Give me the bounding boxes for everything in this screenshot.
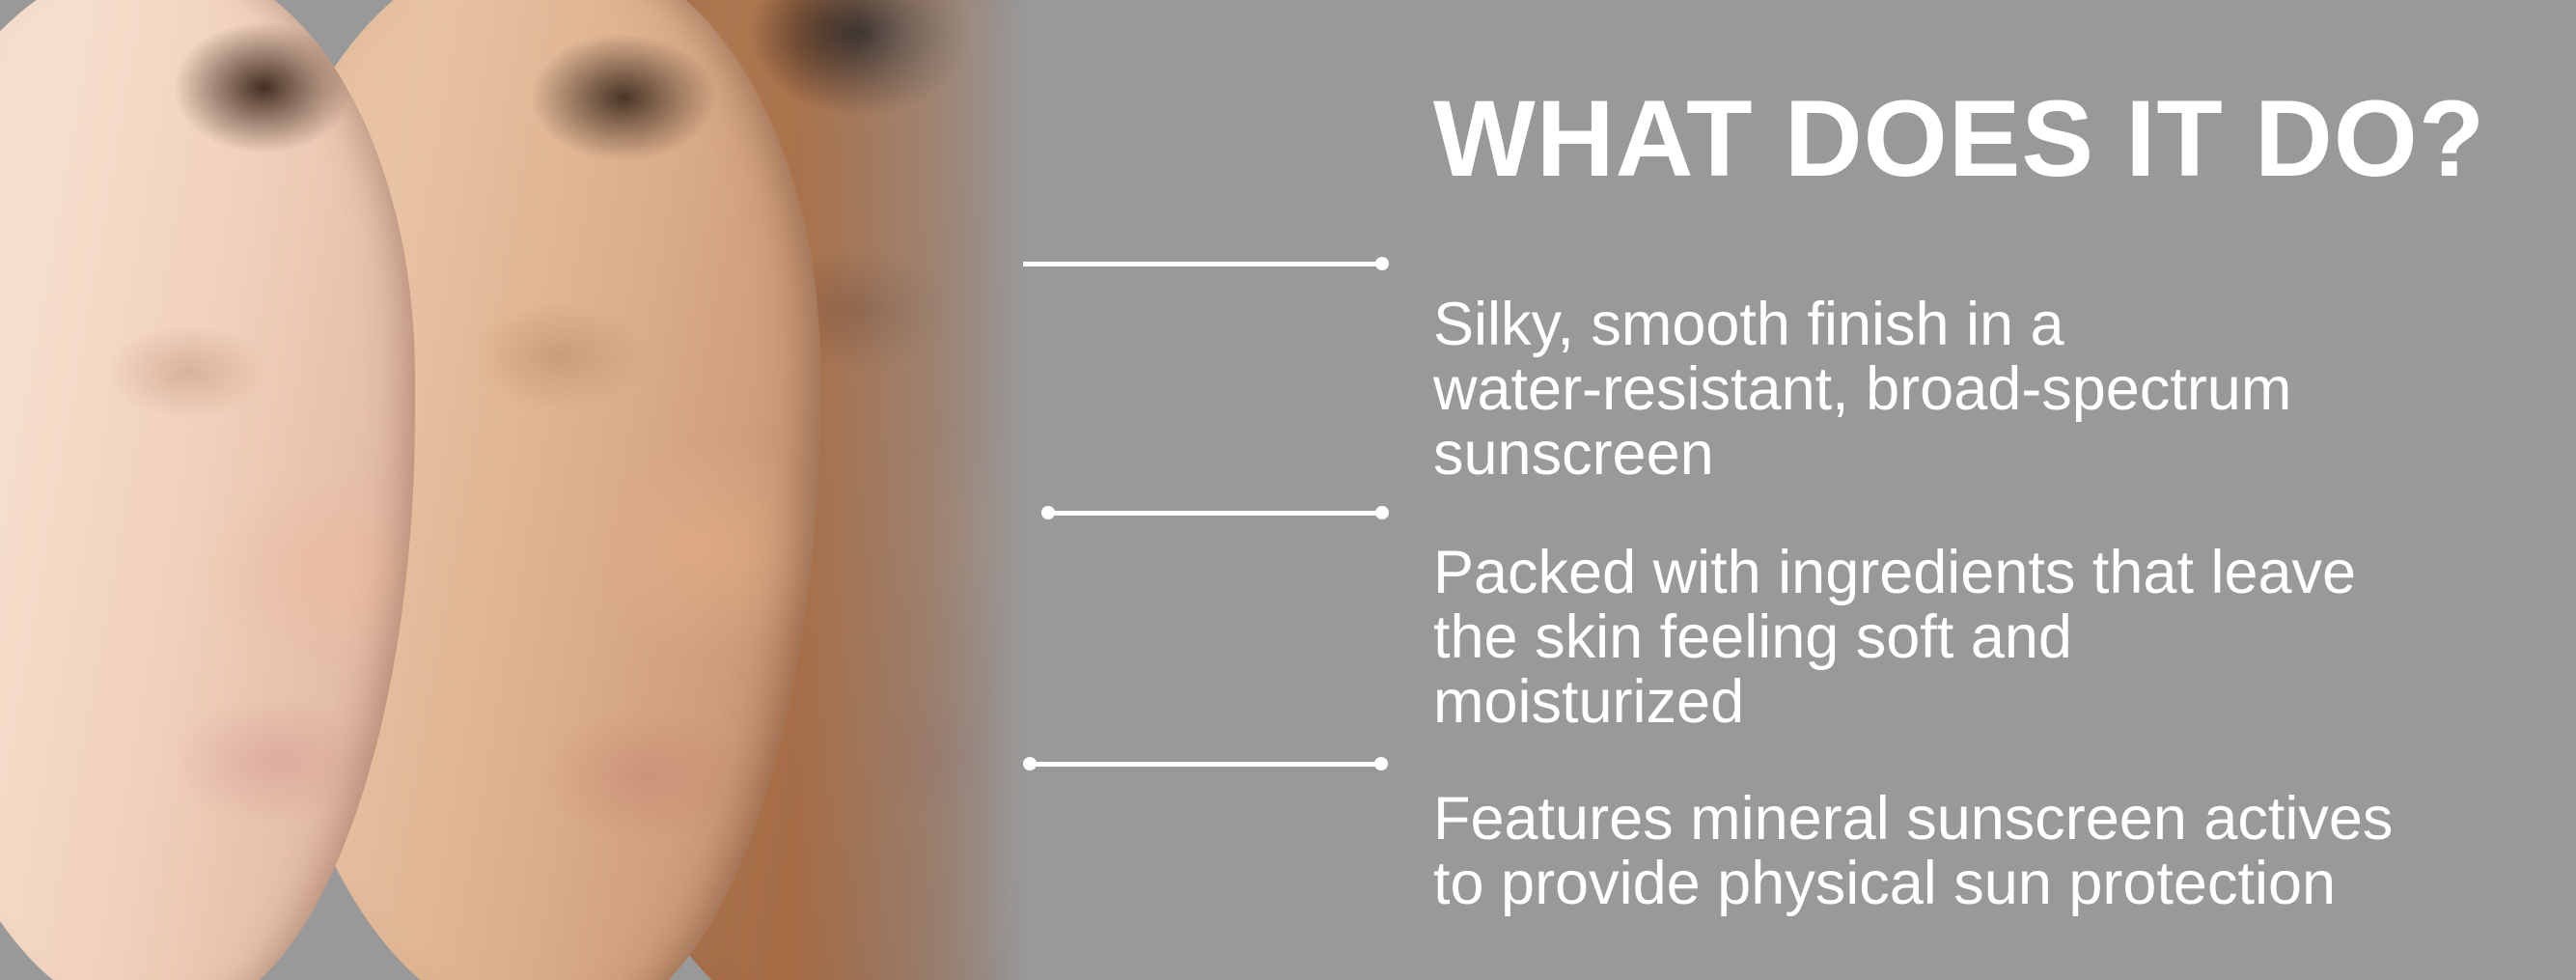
benefit-text-3: Features mineral sunscreen actives to pr… (1433, 787, 2393, 916)
infographic-banner: WHAT DOES IT DO? Silky, smooth finish in… (0, 0, 2576, 980)
connector-dot-end-icon (1374, 757, 1388, 770)
connector-dot-end-icon (1375, 257, 1389, 270)
page-title: WHAT DOES IT DO? (1433, 85, 2485, 193)
model-photo-collage (0, 0, 1023, 980)
connector-bar (1048, 511, 1382, 516)
connector-line-2 (1041, 506, 1389, 519)
connector-bar (992, 262, 1382, 266)
copy-column: WHAT DOES IT DO? Silky, smooth finish in… (1433, 0, 2495, 980)
connector-bar (1030, 762, 1381, 767)
connector-line-1 (985, 257, 1389, 270)
benefit-text-2: Packed with ingredients that leave the s… (1433, 541, 2356, 735)
connector-dot-end-icon (1375, 506, 1389, 519)
benefit-text-1: Silky, smooth finish in a water-resistan… (1433, 293, 2291, 487)
connector-line-3 (1023, 757, 1388, 770)
